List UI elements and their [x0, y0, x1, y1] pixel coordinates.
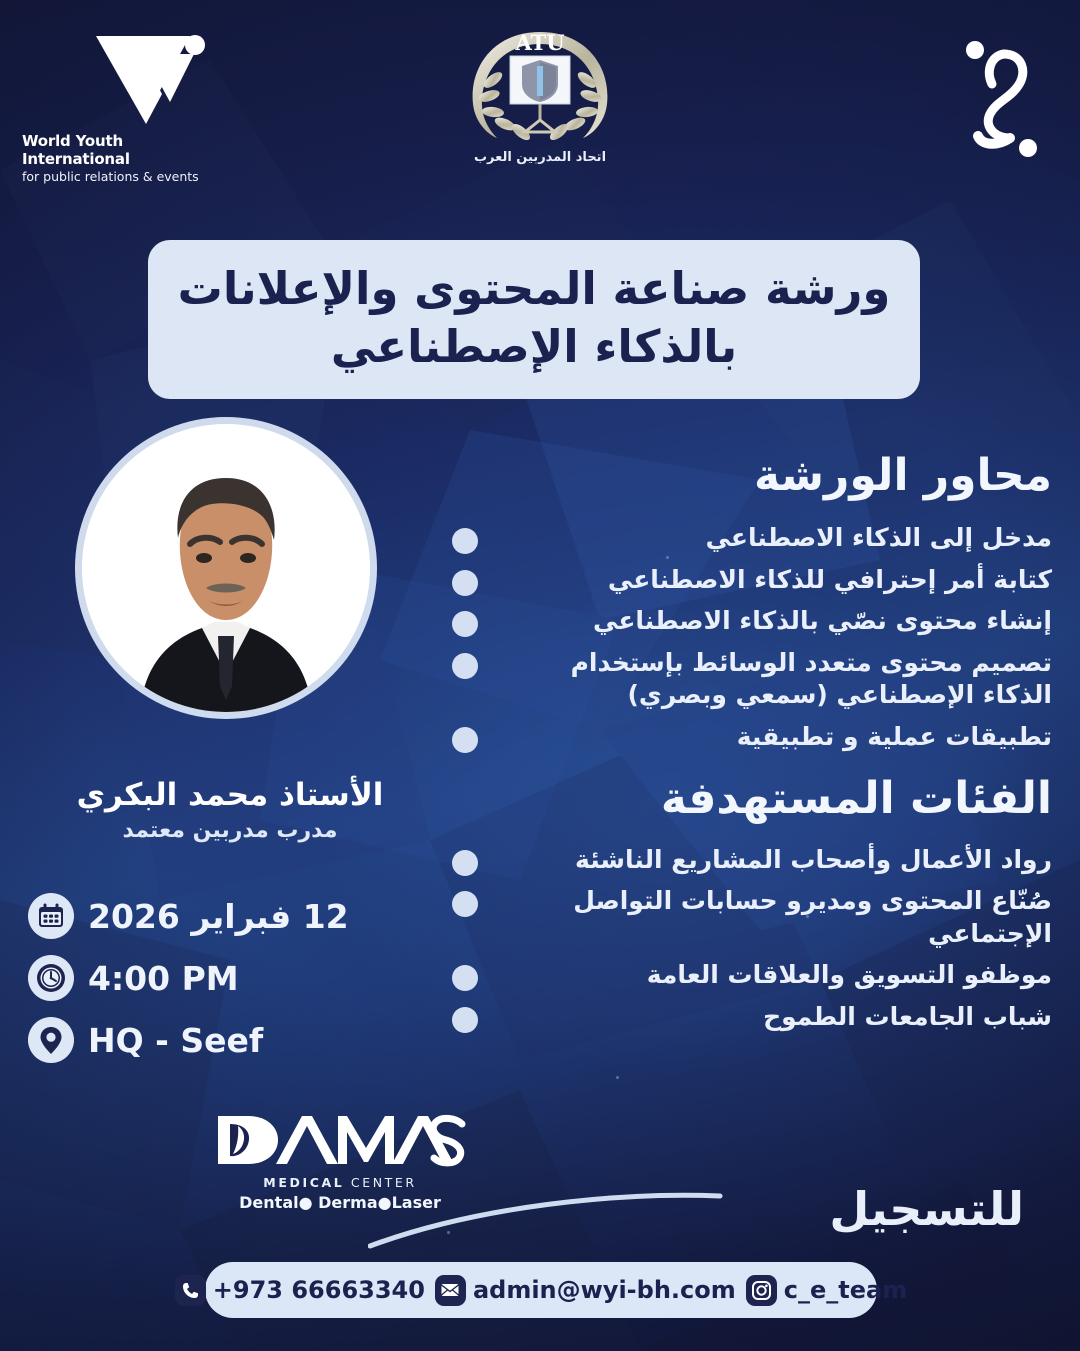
bullet-dot-icon — [452, 611, 478, 637]
audience-label: شباب الجامعات الطموح — [494, 1001, 1052, 1034]
speaker-role: مدرب مدربين معتمد — [20, 818, 440, 843]
content-column: محاور الورشة مدخل إلى الذكاء الاصطناعي ك… — [452, 452, 1052, 1042]
bullet-dot-icon — [452, 891, 478, 917]
instagram-icon — [746, 1275, 777, 1306]
speaker-info: الأستاذ محمد البكري مدرب مدربين معتمد — [20, 778, 440, 843]
list-item: شباب الجامعات الطموح — [452, 1001, 1052, 1034]
bullet-dot-icon — [452, 965, 478, 991]
list-item: مدخل إلى الذكاء الاصطناعي — [452, 522, 1052, 555]
list-item: تطبيقات عملية و تطبيقية — [452, 721, 1052, 754]
bullet-dot-icon — [452, 570, 478, 596]
sparkle — [616, 1076, 619, 1079]
title-line-1: ورشة صناعة المحتوى والإعلانات — [174, 260, 894, 318]
list-item: صُنّاع المحتوى ومديرو حسابات التواصل الإ… — [452, 885, 1052, 950]
wyi-logo-icon — [28, 32, 212, 128]
bullet-dot-icon — [452, 850, 478, 876]
phone-number: +973 66663340 — [213, 1276, 425, 1304]
topic-label: تصميم محتوى متعدد الوسائط بإستخدام الذكا… — [494, 647, 1052, 712]
contact-email[interactable]: admin@wyi-bh.com — [435, 1275, 736, 1306]
speaker-photo — [82, 424, 370, 712]
atu-abbr: ATU — [514, 30, 564, 55]
event-date: 12 فبراير 2026 — [88, 897, 349, 936]
damas-wordmark-icon — [214, 1112, 466, 1168]
event-time: 4:00 PM — [88, 959, 239, 998]
event-time-row: 4:00 PM — [28, 955, 358, 1001]
contact-phone[interactable]: +973 66663340 — [175, 1275, 425, 1306]
workshop-title: ورشة صناعة المحتوى والإعلانات بالذكاء ال… — [148, 240, 920, 399]
contact-instagram[interactable]: c_e_team — [746, 1275, 907, 1306]
topic-label: كتابة أمر إحترافي للذكاء الاصطناعي — [494, 564, 1052, 597]
email-address: admin@wyi-bh.com — [473, 1276, 736, 1304]
audience-list: رواد الأعمال وأصحاب المشاريع الناشئة صُن… — [452, 844, 1052, 1034]
list-item: موظفو التسويق والعلاقات العامة — [452, 959, 1052, 992]
bullet-dot-icon — [452, 727, 478, 753]
wyi-name: World Youth International — [22, 132, 212, 168]
atu-logo: ATU اتحاد المدربين العرب — [440, 22, 640, 165]
event-poster: World Youth International for public rel… — [0, 0, 1080, 1351]
speaker-name: الأستاذ محمد البكري — [20, 778, 440, 814]
list-item: تصميم محتوى متعدد الوسائط بإستخدام الذكا… — [452, 647, 1052, 712]
topics-list: مدخل إلى الذكاء الاصطناعي كتابة أمر إحتر… — [452, 522, 1052, 753]
event-details: 12 فبراير 2026 — [28, 893, 358, 1079]
audience-label: صُنّاع المحتوى ومديرو حسابات التواصل الإ… — [494, 885, 1052, 950]
list-item: رواد الأعمال وأصحاب المشاريع الناشئة — [452, 844, 1052, 877]
topic-label: مدخل إلى الذكاء الاصطناعي — [494, 522, 1052, 555]
bullet-dot-icon — [452, 1007, 478, 1033]
bullet-dot-icon — [452, 653, 478, 679]
email-icon — [435, 1275, 466, 1306]
topic-label: إنشاء محتوى نصّي بالذكاء الاصطناعي — [494, 605, 1052, 638]
list-item: إنشاء محتوى نصّي بالذكاء الاصطناعي — [452, 605, 1052, 638]
phone-icon — [175, 1275, 206, 1306]
event-date-row: 12 فبراير 2026 — [28, 893, 358, 939]
clock-icon — [28, 955, 74, 1001]
registration-label: للتسجيل — [829, 1182, 1024, 1236]
contact-bar: +973 66663340 admin@wyi-bh.com — [205, 1262, 877, 1318]
title-line-2: بالذكاء الإصطناعي — [174, 318, 894, 376]
wyi-logo: World Youth International for public rel… — [22, 32, 212, 184]
audience-label: موظفو التسويق والعلاقات العامة — [494, 959, 1052, 992]
calendar-icon — [28, 893, 74, 939]
audience-heading: الفئات المستهدفة — [452, 775, 1052, 823]
topics-heading: محاور الورشة — [452, 452, 1052, 500]
topic-label: تطبيقات عملية و تطبيقية — [494, 721, 1052, 754]
calligraphy-mark-icon — [940, 26, 1060, 166]
wyi-tagline: for public relations & events — [22, 169, 212, 184]
event-location: HQ - Seef — [88, 1021, 263, 1060]
bullet-dot-icon — [452, 528, 478, 554]
audience-label: رواد الأعمال وأصحاب المشاريع الناشئة — [494, 844, 1052, 877]
location-pin-icon — [28, 1017, 74, 1063]
instagram-handle: c_e_team — [784, 1276, 907, 1304]
list-item: كتابة أمر إحترافي للذكاء الاصطناعي — [452, 564, 1052, 597]
decorative-swoosh — [368, 1186, 728, 1260]
event-location-row: HQ - Seef — [28, 1017, 358, 1063]
